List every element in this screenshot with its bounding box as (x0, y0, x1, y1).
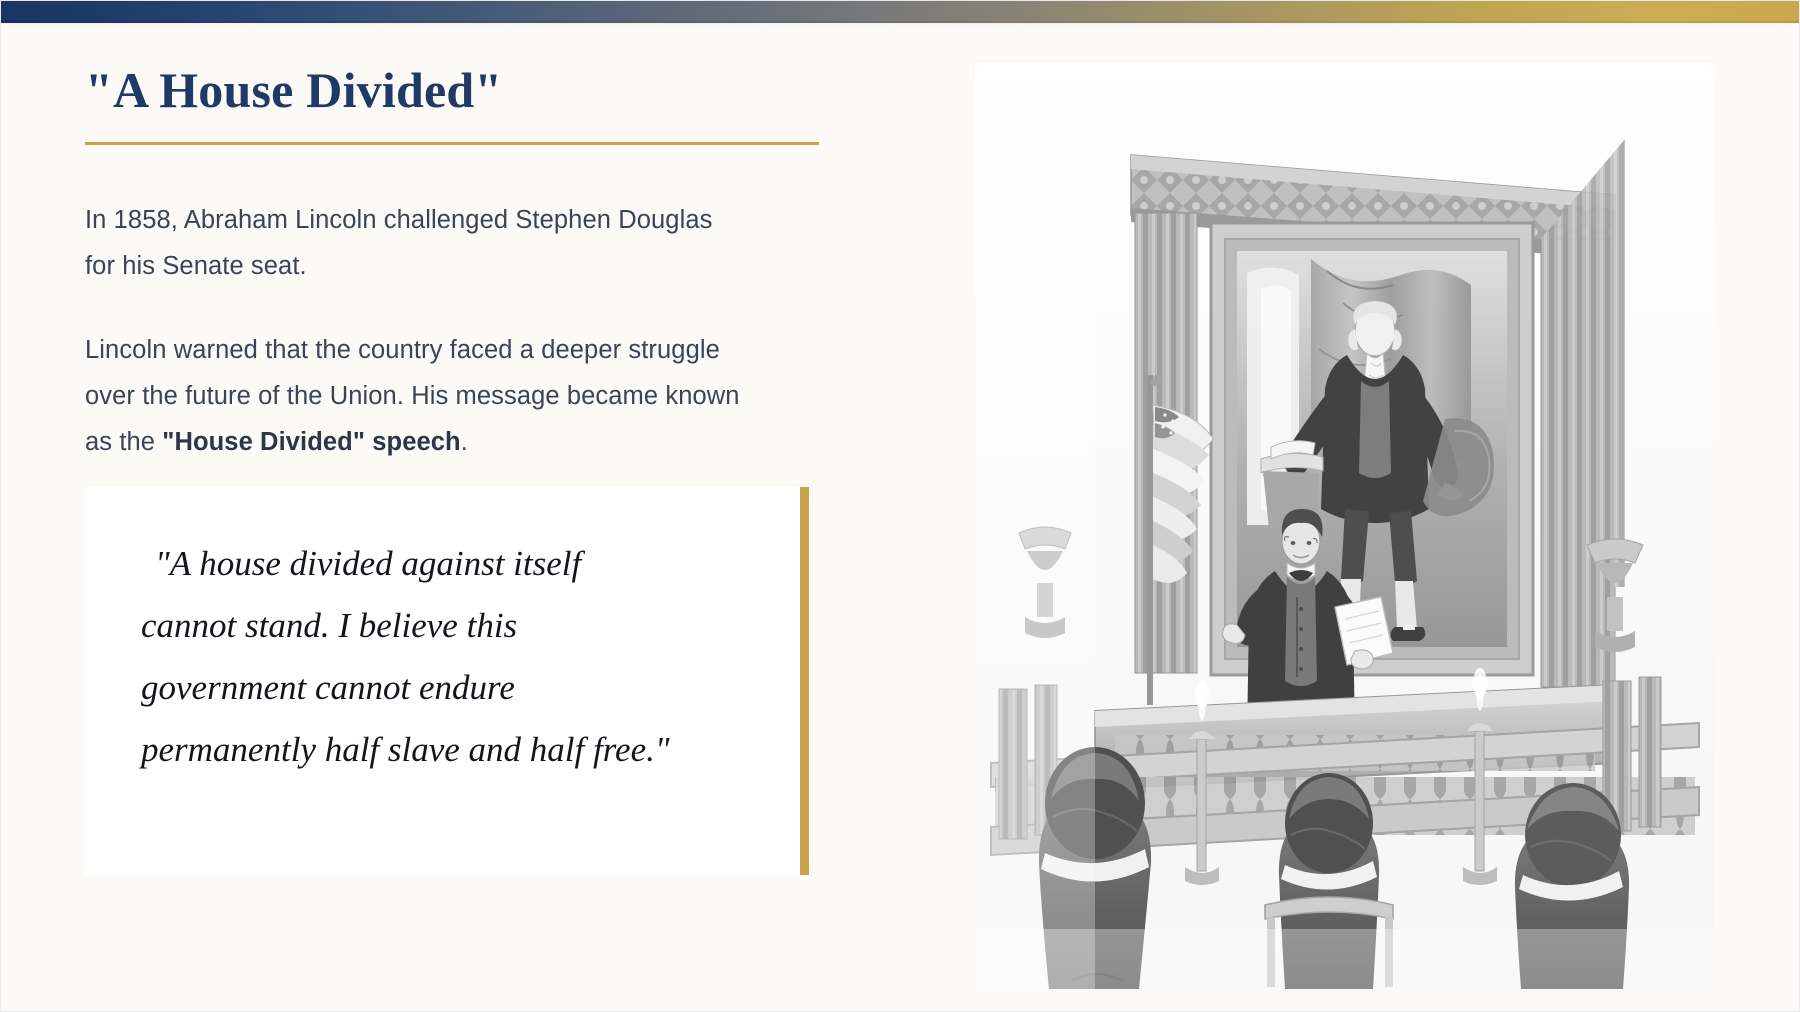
pull-quote-text: "A house divided against itself cannot s… (141, 533, 681, 781)
pull-quote-accent-bar (800, 487, 809, 875)
page-title: "A House Divided" (85, 63, 825, 118)
body-paragraph-2: Lincoln warned that the country faced a … (85, 327, 745, 465)
house-divided-speech-emphasis: "House Divided" speech (162, 428, 460, 456)
lincoln-engraving-figure (975, 63, 1715, 989)
body-paragraph-2-tail: . (461, 428, 468, 456)
content-column: "A House Divided" In 1858, Abraham Linco… (85, 63, 825, 875)
slide: "A House Divided" In 1858, Abraham Linco… (0, 0, 1800, 1012)
title-underline-rule (85, 142, 819, 145)
pull-quote-block: "A house divided against itself cannot s… (85, 487, 809, 875)
lincoln-engraving-image (975, 63, 1715, 989)
top-accent-bar (1, 1, 1800, 23)
top-accent-bar-shadow (1, 21, 1800, 25)
body-paragraph-1: In 1858, Abraham Lincoln challenged Step… (85, 197, 745, 289)
